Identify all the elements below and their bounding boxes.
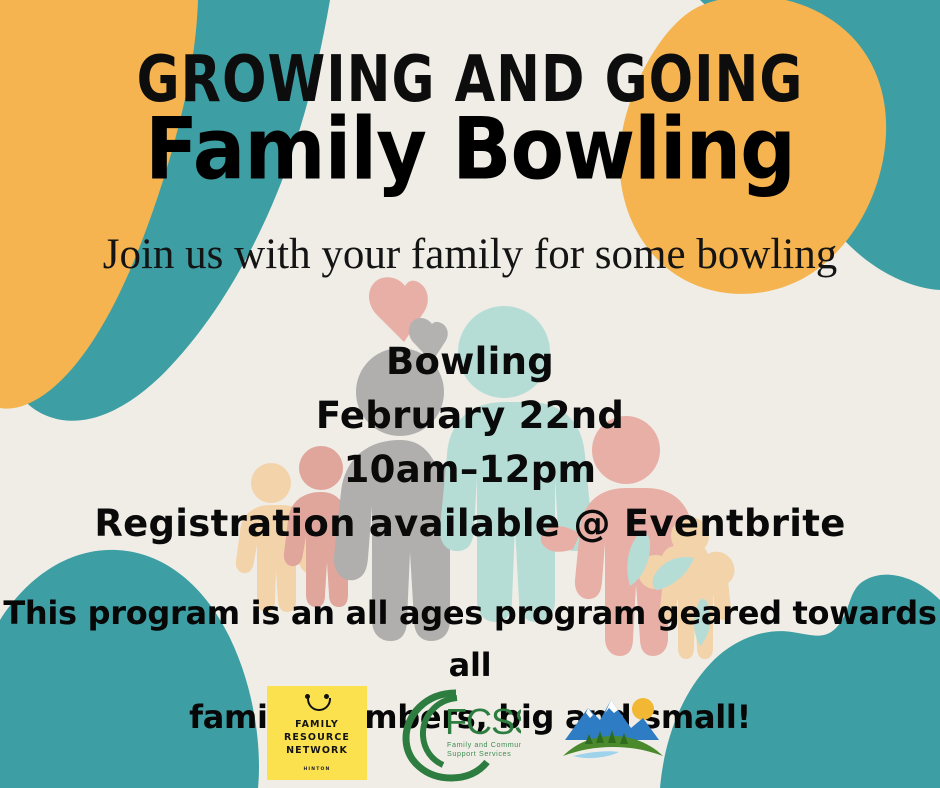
smiley-face-icon xyxy=(299,694,335,714)
fcss-tagline-line-2: Support Services xyxy=(447,749,511,758)
sun-icon xyxy=(632,698,654,720)
event-detail-date: February 22nd xyxy=(0,389,940,443)
event-details: Bowling February 22nd 10am–12pm Registra… xyxy=(0,335,940,551)
family-resource-network-logo: FAMILY RESOURCE NETWORK HINTON xyxy=(267,686,367,780)
hinton-logo: HINTON xyxy=(555,686,673,782)
poster-subhead: Join us with your family for some bowlin… xyxy=(0,232,940,277)
fcss-acronym: FCSS xyxy=(445,701,521,742)
sponsor-logo-row: FAMILY RESOURCE NETWORK HINTON FCSS Fami… xyxy=(0,686,940,788)
poster-text-layer: GROWING AND GOING Family Bowling Join us… xyxy=(0,0,940,788)
frn-location: HINTON xyxy=(303,767,330,772)
fcss-tagline-line-1: Family and Community xyxy=(447,740,521,749)
smiley-mouth-icon xyxy=(307,698,331,711)
fcss-logo: FCSS Family and Community Support Servic… xyxy=(401,686,521,782)
fcss-logo-graphic: FCSS Family and Community Support Servic… xyxy=(401,686,521,782)
event-detail-activity: Bowling xyxy=(0,335,940,389)
poster-headline: Family Bowling xyxy=(0,107,940,193)
frn-name-line-2: NETWORK xyxy=(286,745,348,758)
program-description-line-1: This program is an all ages program gear… xyxy=(0,588,940,692)
hinton-logo-graphic xyxy=(555,686,673,782)
frn-name-line-1: FAMILY RESOURCE xyxy=(267,719,367,745)
event-detail-time: 10am–12pm xyxy=(0,443,940,497)
water-icon xyxy=(573,751,619,758)
event-detail-registration: Registration available @ Eventbrite xyxy=(0,497,940,551)
poster-canvas: GROWING AND GOING Family Bowling Join us… xyxy=(0,0,940,788)
